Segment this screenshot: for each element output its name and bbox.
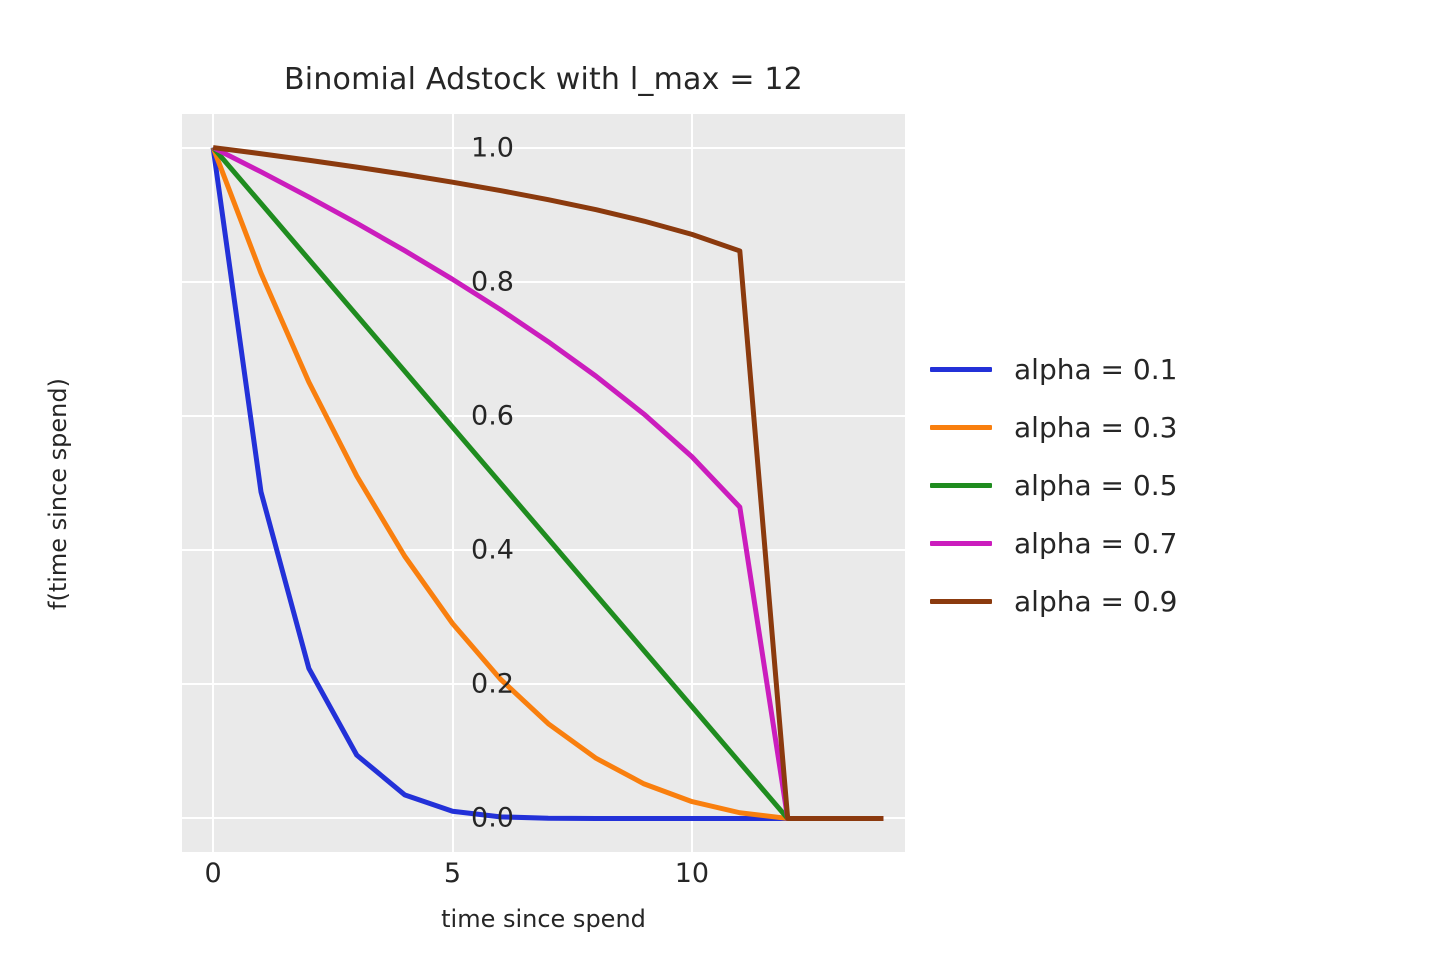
y-tick-label: 0.6 [394,400,514,431]
series-line-1 [213,148,883,819]
y-axis-label: f(time since spend) [44,344,72,644]
y-tick-label: 0.8 [394,266,514,297]
legend-color-swatch [930,367,992,372]
y-tick-label: 1.0 [394,132,514,163]
x-tick-label: 10 [632,858,752,889]
plot-panel [182,114,905,852]
chart-title: Binomial Adstock with l_max = 12 [182,62,905,97]
series-line-3 [213,148,883,819]
x-tick-label: 0 [153,858,273,889]
chart-legend: alpha = 0.1alpha = 0.3alpha = 0.5alpha =… [930,340,1177,630]
legend-label: alpha = 0.9 [1014,585,1177,618]
x-axis-label: time since spend [182,905,905,933]
legend-label: alpha = 0.1 [1014,353,1177,386]
chart-figure: Binomial Adstock with l_max = 12 0.00.20… [0,0,1440,960]
legend-color-swatch [930,599,992,604]
series-line-2 [213,148,883,819]
legend-item[interactable]: alpha = 0.3 [930,398,1177,456]
y-tick-label: 0.0 [394,803,514,834]
legend-item[interactable]: alpha = 0.9 [930,572,1177,630]
series-line-0 [213,148,883,819]
y-tick-label: 0.2 [394,669,514,700]
legend-item[interactable]: alpha = 0.1 [930,340,1177,398]
series-line-4 [213,148,883,819]
plot-lines [182,114,905,852]
legend-color-swatch [930,425,992,430]
legend-label: alpha = 0.5 [1014,469,1177,502]
legend-label: alpha = 0.3 [1014,411,1177,444]
legend-item[interactable]: alpha = 0.7 [930,514,1177,572]
legend-color-swatch [930,541,992,546]
legend-label: alpha = 0.7 [1014,527,1177,560]
legend-color-swatch [930,483,992,488]
y-tick-label: 0.4 [394,535,514,566]
legend-item[interactable]: alpha = 0.5 [930,456,1177,514]
x-tick-label: 5 [393,858,513,889]
